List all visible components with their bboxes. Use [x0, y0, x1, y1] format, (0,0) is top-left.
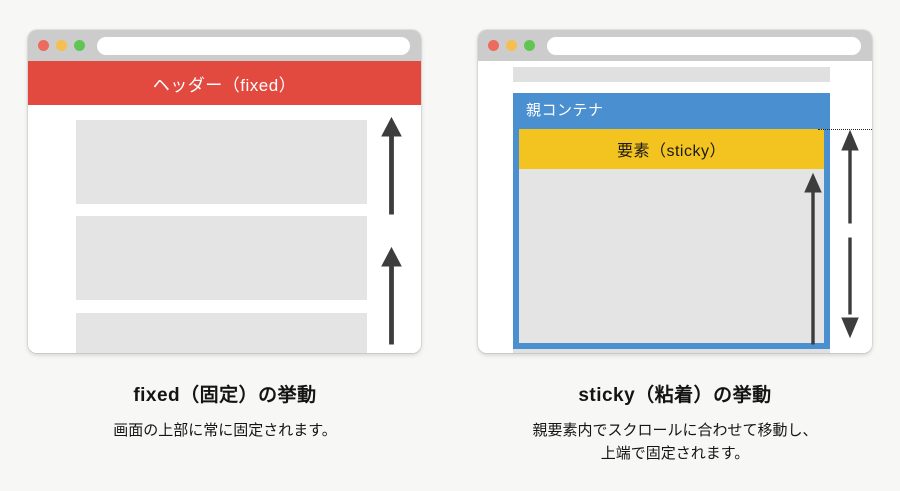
caption-fixed: fixed（固定）の挙動 画面の上部に常に固定されます。	[0, 380, 450, 442]
sticky-element-label: 要素（sticky）	[617, 137, 726, 161]
caption-fixed-body: 画面の上部に常に固定されます。	[0, 419, 450, 442]
titlebar-sticky	[478, 30, 872, 61]
page-strip-top	[513, 67, 830, 82]
inner-scroll-content	[519, 169, 824, 343]
scroll-arrow-lower	[378, 246, 406, 344]
close-button-icon[interactable]	[38, 40, 49, 51]
caption-sticky-body: 親要素内でスクロールに合わせて移動し、 上端で固定されます。	[450, 419, 900, 466]
titlebar-fixed	[28, 30, 421, 61]
parent-container-label: 親コンテナ	[526, 99, 604, 120]
diagram-canvas: ヘッダー（fixed）	[0, 0, 900, 491]
content-block-2	[76, 216, 367, 300]
caption-fixed-line-1: 画面の上部に常に固定されます。	[0, 419, 450, 442]
address-bar-fixed[interactable]	[97, 37, 410, 55]
inner-scroll-arrow	[800, 172, 826, 344]
caption-fixed-title: fixed（固定）の挙動	[0, 380, 450, 407]
minimize-button-icon[interactable]	[506, 40, 517, 51]
sticky-range-arrow	[838, 128, 862, 340]
maximize-button-icon[interactable]	[74, 40, 85, 51]
caption-sticky-line-1: 親要素内でスクロールに合わせて移動し、	[450, 419, 900, 442]
sticky-element: 要素（sticky）	[519, 129, 824, 169]
scroll-arrow-upper	[378, 116, 406, 214]
maximize-button-icon[interactable]	[524, 40, 535, 51]
caption-sticky-line-2: 上端で固定されます。	[450, 442, 900, 465]
address-bar-sticky[interactable]	[547, 37, 861, 55]
content-block-1	[76, 120, 367, 204]
close-button-icon[interactable]	[488, 40, 499, 51]
browser-window-fixed: ヘッダー（fixed）	[28, 30, 421, 353]
fixed-header-label: ヘッダー（fixed）	[153, 71, 296, 96]
caption-sticky-title: sticky（粘着）の挙動	[450, 380, 900, 407]
caption-sticky: sticky（粘着）の挙動 親要素内でスクロールに合わせて移動し、 上端で固定さ…	[450, 380, 900, 466]
minimize-button-icon[interactable]	[56, 40, 67, 51]
fixed-header-bar: ヘッダー（fixed）	[28, 61, 421, 105]
content-block-3	[76, 313, 367, 353]
viewport-fixed: ヘッダー（fixed）	[28, 61, 421, 353]
